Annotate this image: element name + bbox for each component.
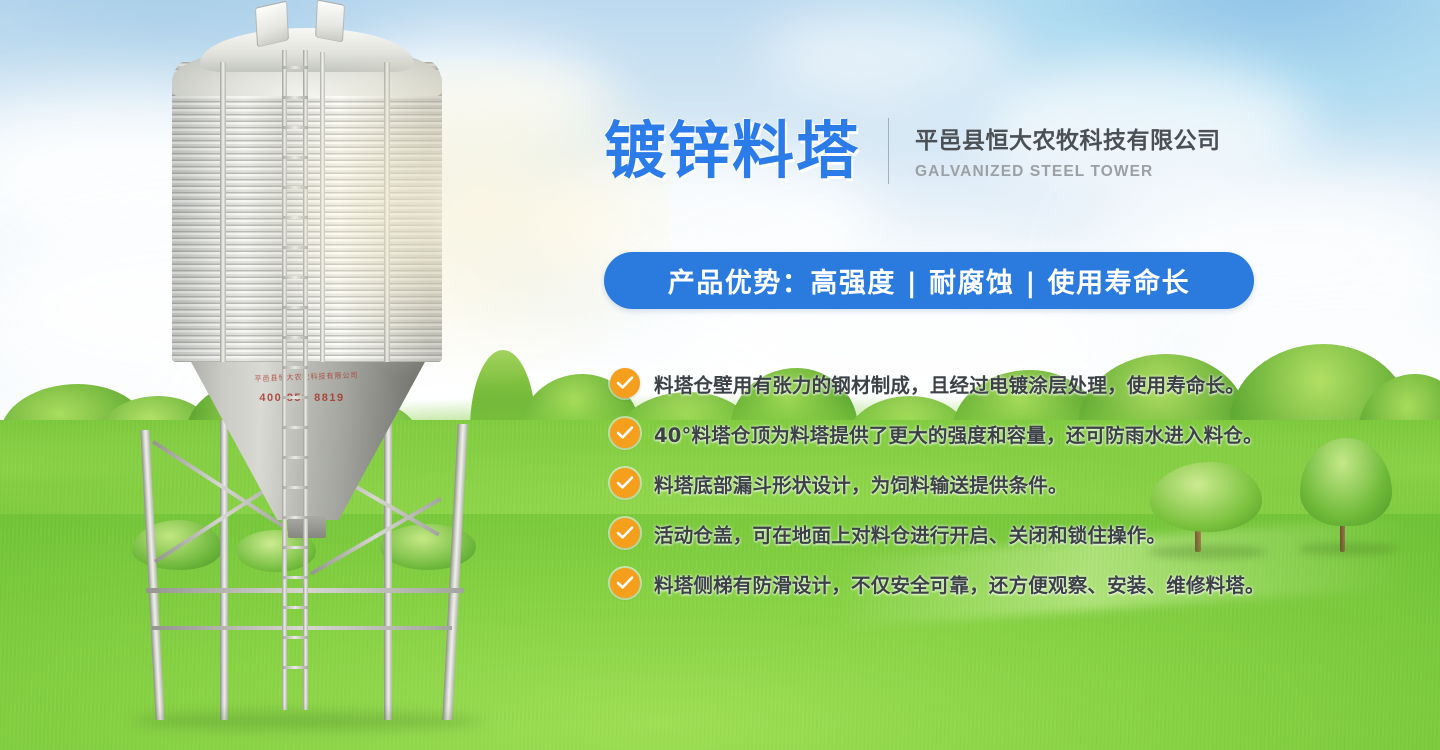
check-circle-icon	[610, 368, 640, 398]
ladder-rung	[282, 516, 308, 519]
list-item: 料塔侧梯有防滑设计，不仅安全可靠，还方便观察、安装、维修料塔。	[610, 558, 1310, 608]
ladder-rung	[282, 396, 308, 399]
silo-stiffener	[320, 52, 325, 362]
hero-text-content: 镀锌料塔 平邑县恒大农牧科技有限公司 GALVANIZED STEEL TOWE…	[604, 0, 1304, 750]
ladder-rung	[282, 636, 308, 639]
product-image-silo: 平邑县恒大农牧科技有限公司 400 850 8819	[92, 0, 522, 740]
ladder-rung	[282, 606, 308, 609]
ladder-rung	[282, 456, 308, 459]
ladder-rung	[282, 96, 308, 99]
ladder-rung	[282, 426, 308, 429]
ladder-rung	[282, 126, 308, 129]
list-item: 料塔底部漏斗形状设计，为饲料输送提供条件。	[610, 458, 1310, 508]
ladder-rung	[282, 66, 308, 69]
feature-text: 活动仓盖，可在地面上对料仓进行开启、关闭和锁住操作。	[654, 519, 1166, 548]
silo-leg	[220, 420, 228, 720]
ladder-rung	[282, 486, 308, 489]
ladder-rung	[282, 216, 308, 219]
check-circle-icon	[610, 468, 640, 498]
list-item: 料塔仓壁用有张力的钢材制成，且经过电镀涂层处理，使用寿命长。	[610, 358, 1310, 408]
hero-banner: 平邑县恒大农牧科技有限公司 400 850 8819	[0, 0, 1440, 750]
ladder-rung	[282, 156, 308, 159]
silo-leg	[442, 424, 468, 720]
ladder-rung	[282, 306, 308, 309]
silo-roof-hatch	[315, 0, 345, 43]
silo-ground-shadow	[132, 712, 482, 730]
ladder-rung	[282, 336, 308, 339]
ladder-rung	[282, 276, 308, 279]
headline-row: 镀锌料塔 平邑县恒大农牧科技有限公司 GALVANIZED STEEL TOWE…	[604, 118, 1221, 184]
feature-text: 料塔仓壁用有张力的钢材制成，且经过电镀涂层处理，使用寿命长。	[654, 369, 1245, 398]
advantage-banner[interactable]: 产品优势：高强度 | 耐腐蚀 | 使用寿命长	[604, 252, 1254, 309]
feature-list: 料塔仓壁用有张力的钢材制成，且经过电镀涂层处理，使用寿命长。 40°料塔仓顶为料…	[610, 358, 1310, 608]
list-item: 活动仓盖，可在地面上对料仓进行开启、关闭和锁住操作。	[610, 508, 1310, 558]
silo-stiffener	[220, 62, 226, 362]
company-block: 平邑县恒大农牧科技有限公司 GALVANIZED STEEL TOWER	[915, 121, 1221, 181]
ladder-rung	[282, 366, 308, 369]
feature-text: 40°料塔仓顶为料塔提供了更大的强度和容量，还可防雨水进入料仓。	[654, 419, 1263, 448]
silo-stiffener	[384, 62, 390, 362]
page-title: 镀锌料塔	[604, 120, 860, 182]
silo-side-ladder	[282, 50, 308, 710]
tree-shadow	[1298, 543, 1398, 555]
company-name: 平邑县恒大农牧科技有限公司	[915, 121, 1221, 155]
ladder-rung	[282, 186, 308, 189]
feature-text: 料塔侧梯有防滑设计，不仅安全可靠，还方便观察、安装、维修料塔。	[654, 569, 1265, 598]
check-circle-icon	[610, 418, 640, 448]
silo-roof-hatch	[255, 1, 289, 48]
ladder-rung	[282, 576, 308, 579]
company-subtitle-en: GALVANIZED STEEL TOWER	[915, 163, 1221, 181]
list-item: 40°料塔仓顶为料塔提供了更大的强度和容量，还可防雨水进入料仓。	[610, 408, 1310, 458]
ladder-rung	[282, 246, 308, 249]
ladder-rail	[303, 50, 308, 710]
check-circle-icon	[610, 518, 640, 548]
ladder-rung	[282, 546, 308, 549]
ladder-rung	[282, 666, 308, 669]
silo-leg	[384, 420, 392, 720]
advantage-banner-label: 产品优势：高强度 | 耐腐蚀 | 使用寿命长	[668, 261, 1190, 300]
title-divider	[888, 118, 889, 184]
check-circle-icon	[610, 568, 640, 598]
feature-text: 料塔底部漏斗形状设计，为饲料输送提供条件。	[654, 469, 1068, 498]
silo-leg	[140, 430, 164, 720]
ladder-rail	[282, 50, 287, 710]
